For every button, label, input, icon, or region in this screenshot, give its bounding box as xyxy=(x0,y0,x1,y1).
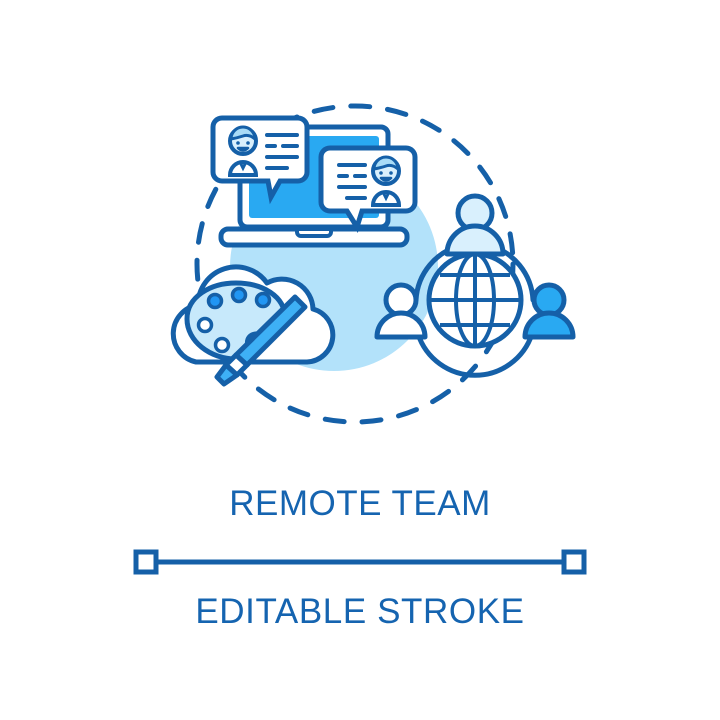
globe-icon xyxy=(429,254,521,346)
divider-handle-left xyxy=(136,552,156,572)
palette-well-1 xyxy=(209,295,222,308)
laptop-base-notch xyxy=(297,229,331,236)
bubble-right-textline-1 xyxy=(337,163,367,167)
palette-well-5 xyxy=(216,339,229,352)
avatar-right-hair xyxy=(374,157,398,169)
remote-team-illustration-svg xyxy=(0,0,720,470)
avatar-left-hair xyxy=(231,127,255,139)
avatar-right-eye-l xyxy=(379,171,383,175)
bubble-left-textline-4 xyxy=(265,166,289,170)
bubble-right-textline-2a xyxy=(337,174,349,178)
editable-stroke-block: EDITABLE STROKE xyxy=(0,548,720,634)
avatar-right-eye-r xyxy=(389,171,393,175)
person-node-left-body xyxy=(377,313,425,337)
laptop-video-chat xyxy=(213,118,415,245)
avatar-left-smile xyxy=(238,148,248,151)
bubble-left-textline-3 xyxy=(265,155,299,159)
palette-well-2 xyxy=(233,289,246,302)
person-node-top-body xyxy=(447,226,503,254)
illustration-area xyxy=(0,0,720,470)
palette-well-4 xyxy=(199,319,212,332)
avatar-left-eye-r xyxy=(246,141,250,145)
editable-stroke-label: EDITABLE STROKE xyxy=(0,590,720,634)
bubble-right-textline-4 xyxy=(345,196,367,200)
page-title: REMOTE TEAM xyxy=(0,482,720,526)
person-node-top xyxy=(447,196,503,254)
avatar-right-smile xyxy=(381,178,391,181)
person-node-right-body xyxy=(525,313,573,337)
bubble-left-textline-2a xyxy=(265,144,277,148)
bubble-left-textline-1 xyxy=(265,133,299,137)
bubble-left-textline-2b xyxy=(281,144,299,148)
concept-icon-canvas: REMOTE TEAM EDITABLE STROKE xyxy=(0,0,720,720)
stroke-divider xyxy=(130,548,590,576)
stroke-divider-svg xyxy=(130,548,590,576)
avatar-left-eye-l xyxy=(236,141,240,145)
palette-well-3 xyxy=(257,294,270,307)
bubble-right-textline-3 xyxy=(337,185,367,189)
bubble-right-textline-2b xyxy=(353,174,367,178)
title-block: REMOTE TEAM xyxy=(0,482,720,526)
divider-handle-right xyxy=(564,552,584,572)
